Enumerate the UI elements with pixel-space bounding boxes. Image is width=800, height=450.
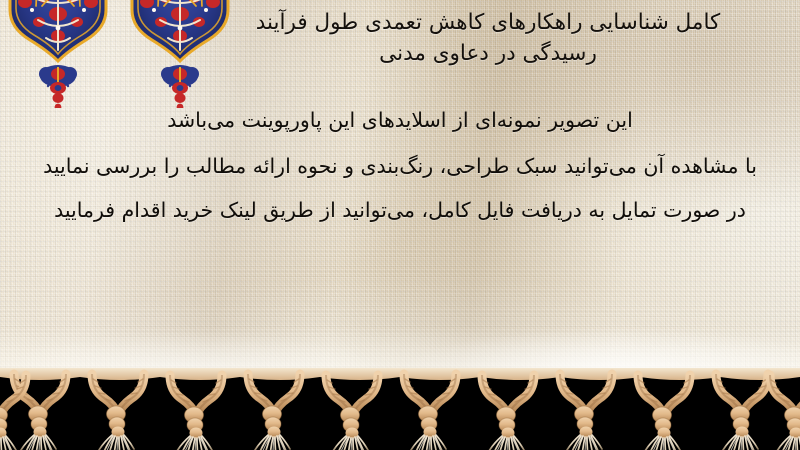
body-line-3: در صورت تمایل به دریافت فایل کامل، می‌تو… [8, 195, 792, 225]
slide-title-line-1: کامل شناسایی راهکارهای کاهش تعمدی طول فر… [188, 7, 788, 38]
powerpoint-slide: کامل شناسایی راهکارهای کاهش تعمدی طول فر… [0, 0, 800, 450]
body-line-1: این تصویر نمونه‌ای از اسلایدهای این پاور… [8, 105, 792, 135]
body-line-2: با مشاهده آن می‌توانید سبک طراحی، رنگ‌بن… [8, 151, 792, 181]
carpet-fringe-tassels [0, 368, 800, 450]
slide-title-line-2: رسیدگی در دعاوی مدنی [188, 38, 788, 69]
slide-body-text: این تصویر نمونه‌ای از اسلایدهای این پاور… [8, 105, 792, 225]
slide-title: کامل شناسایی راهکارهای کاهش تعمدی طول فر… [188, 7, 788, 69]
slide-text-layer: کامل شناسایی راهکارهای کاهش تعمدی طول فر… [0, 0, 800, 382]
